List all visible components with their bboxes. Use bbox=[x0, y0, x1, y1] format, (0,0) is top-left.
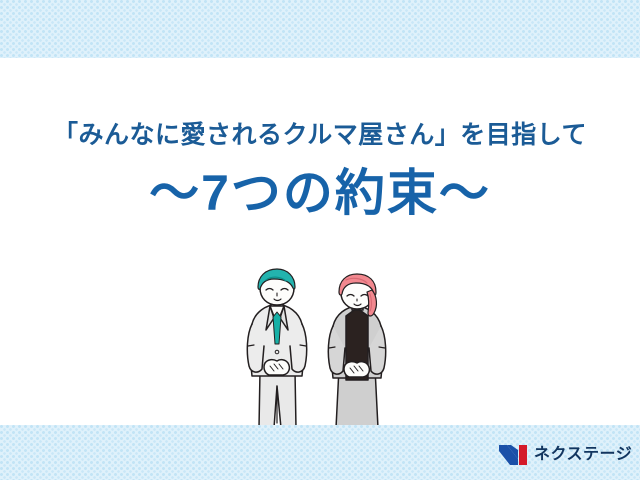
headline-block: 「みんなに愛されるクルマ屋さん」を目指して 〜7つの約束〜 bbox=[0, 118, 640, 222]
male-staff-figure bbox=[247, 269, 306, 428]
headline-primary: 「みんなに愛されるクルマ屋さん」を目指して bbox=[0, 118, 640, 152]
nextage-n-mark-icon bbox=[498, 444, 528, 466]
staff-illustration-svg bbox=[236, 268, 416, 428]
brand-name: ネクステージ bbox=[534, 444, 632, 466]
promise-banner: 「みんなに愛されるクルマ屋さん」を目指して 〜7つの約束〜 bbox=[0, 0, 640, 480]
female-staff-figure bbox=[328, 274, 385, 428]
brand-logo: ネクステージ bbox=[498, 441, 630, 469]
staff-illustration bbox=[236, 268, 416, 428]
headline-secondary: 〜7つの約束〜 bbox=[0, 164, 640, 222]
dotted-band-top bbox=[0, 0, 640, 58]
